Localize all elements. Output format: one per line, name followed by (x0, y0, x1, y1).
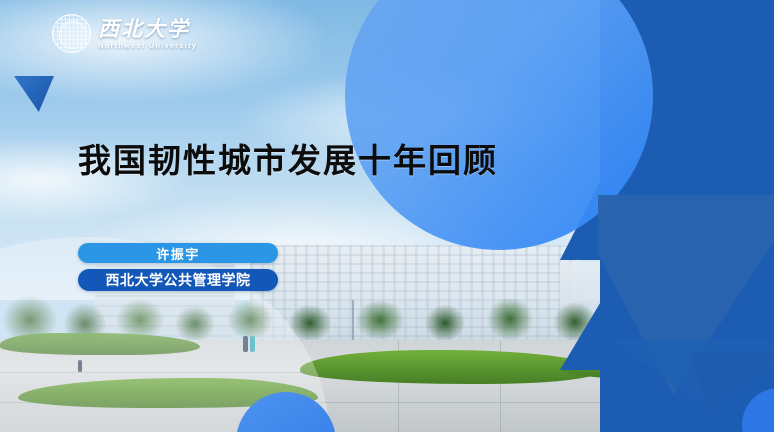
university-logo: 西北大学 Northwest University (52, 14, 197, 53)
university-logo-text: 西北大学 Northwest University (98, 18, 197, 50)
presenter-name-badge: 许振宇 (78, 243, 278, 263)
title-slide: 西北大学 Northwest University 我国韧性城市发展十年回顾 许… (0, 0, 774, 432)
slide-title: 我国韧性城市发展十年回顾 (78, 134, 498, 182)
presenter-affiliation-badge: 西北大学公共管理学院 (78, 269, 278, 291)
university-seal-icon (52, 14, 91, 53)
university-name-cn: 西北大学 (98, 18, 197, 39)
university-name-en: Northwest University (98, 42, 197, 50)
